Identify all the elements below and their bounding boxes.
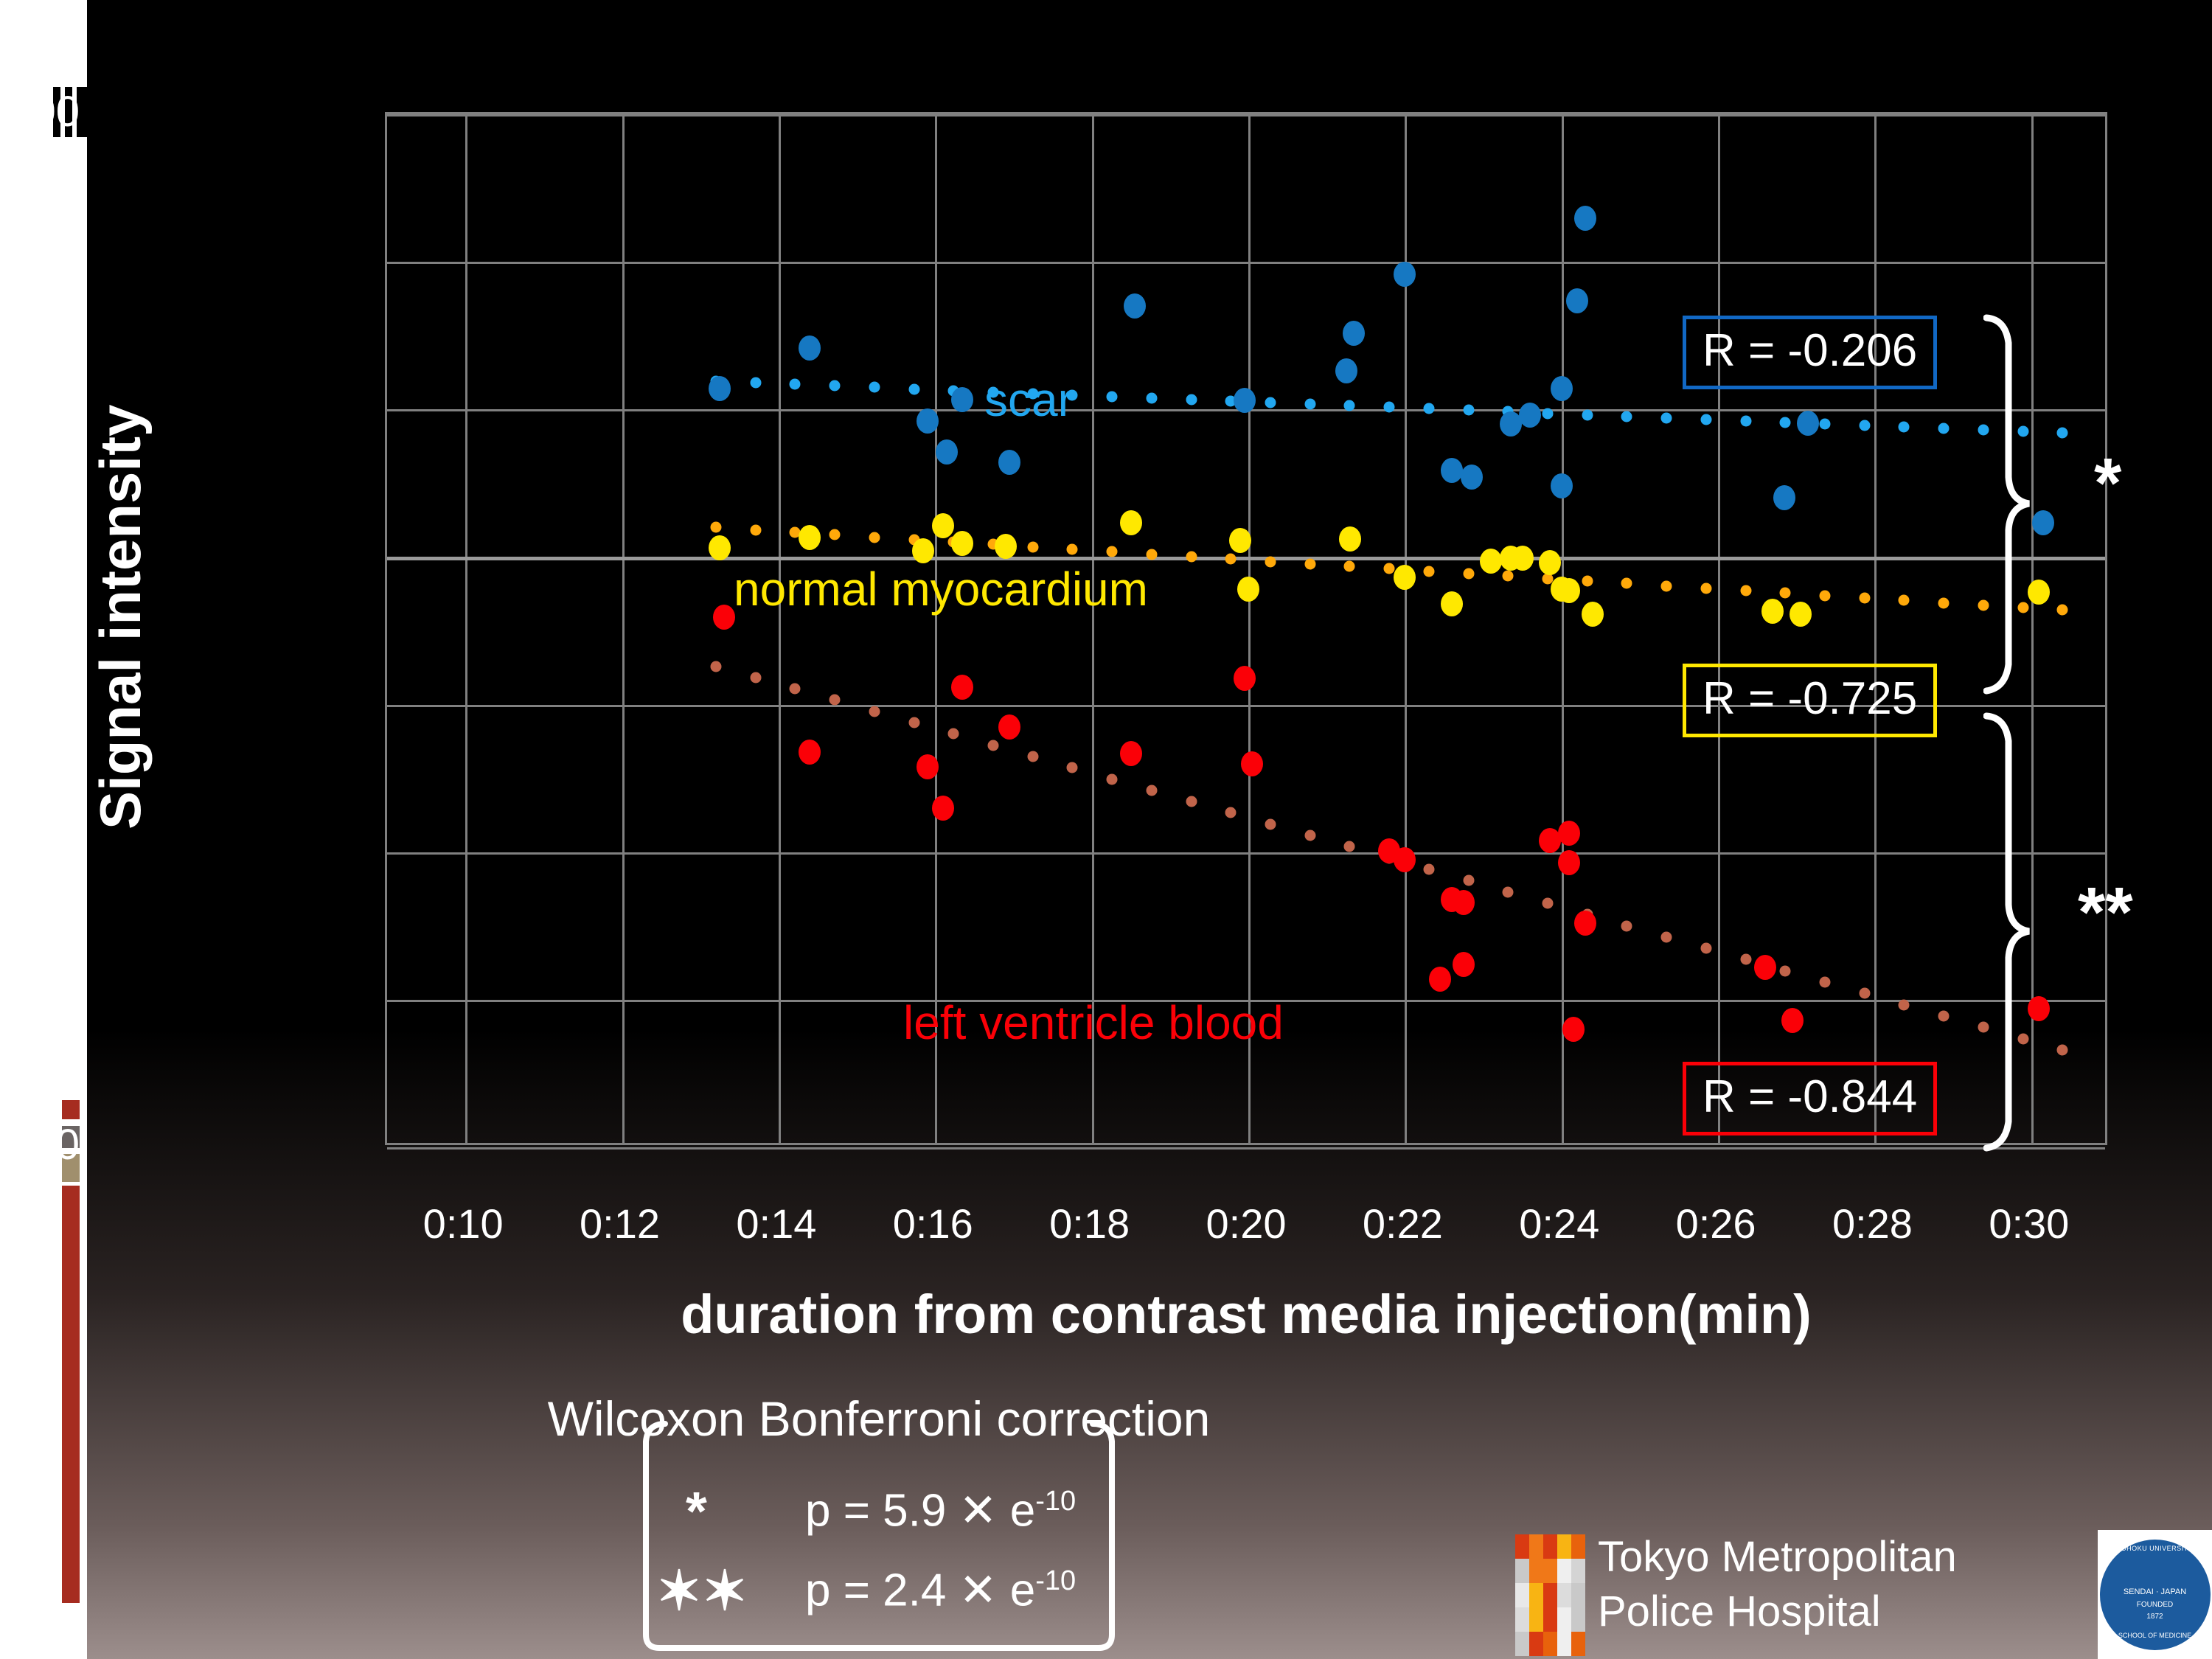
data-point [1229,528,1251,553]
x-axis-tick-label: 0:26 [1676,1203,1756,1245]
trendline-dot [1265,397,1276,408]
seal-text-year: 1872 [2100,1613,2211,1621]
data-point [1539,550,1561,575]
data-point [1797,411,1819,436]
mosaic-tile [1571,1583,1585,1607]
x-axis-tick-label: 0:22 [1363,1203,1443,1245]
y-axis-tick-label: 200 [8,386,80,428]
trendline-dot [1304,830,1315,841]
significance-brace-upper [1983,313,2072,697]
data-point [951,387,973,412]
y-axis-tick-label: 400 [8,238,80,281]
gridline-vertical [1562,114,1564,1143]
mosaic-tile [1543,1632,1557,1656]
trendline-dot [1463,405,1474,416]
data-point [1429,967,1451,992]
hospital-name: Tokyo Metropolitan Police Hospital [1598,1530,1957,1639]
data-point [1335,358,1357,383]
seal-circle: TOHOKU UNIVERSITY SENDAI · JAPAN FOUNDED… [2100,1540,2211,1650]
gridline-vertical [779,114,781,1143]
footnote-marker-double: ✶✶ [656,1564,748,1618]
footnote-text-single: p = 5.9 ✕ e-10 [805,1487,1076,1534]
trendline-dot [1938,423,1950,434]
data-point [1394,262,1416,287]
footnote-exponent-double: -10 [1035,1565,1076,1596]
mosaic-tile [1571,1632,1585,1656]
data-point [713,605,735,630]
trendline-dot [1938,597,1950,608]
trendline-dot [1304,558,1315,569]
trendline-dot [1107,391,1118,402]
mosaic-tile [1557,1607,1571,1632]
series-label-left-ventricle-blood: left ventricle blood [903,999,1284,1046]
gridline-vertical [465,114,467,1143]
mosaic-tile [1571,1607,1585,1632]
trendline-dot [1027,541,1038,552]
data-point [995,534,1017,559]
trendline-dot [1819,418,1830,429]
x-axis-tick-label: 0:24 [1519,1203,1599,1245]
x-axis-tick-label: 0:16 [893,1203,973,1245]
data-point [1558,850,1580,875]
data-point [1582,602,1604,627]
gridline-vertical [935,114,937,1143]
trendline-dot [1186,796,1197,807]
data-point [1453,890,1475,915]
trendline-dot [1186,551,1197,562]
data-point [1773,485,1795,510]
trendline-dot [1107,546,1118,557]
trendline-dot [1661,580,1672,591]
trendline-dot [1503,886,1514,897]
data-point [1761,599,1784,624]
trendline-dot [869,382,880,393]
data-point [1461,465,1483,490]
footnote-exponent-single: -10 [1035,1486,1076,1517]
scatter-plot-area: scar normal myocardium left ventricle bl… [385,112,2107,1145]
data-point [1558,821,1580,846]
mosaic-tile [1557,1534,1571,1559]
data-point [1234,666,1256,691]
data-point [917,754,939,779]
significance-brace-lower [1983,712,2072,1154]
seal-text-mid: SENDAI · JAPAN [2100,1588,2211,1597]
trendline-dot [1423,403,1434,414]
trendline-dot [1661,931,1672,942]
trendline-dot [1463,875,1474,886]
data-point [1512,546,1534,571]
data-point [1574,206,1596,231]
seal-text-founded: FOUNDED [2100,1601,2211,1610]
data-point [1120,741,1142,766]
y-axis-tick-label: -800 [0,1124,80,1166]
footnote-box: Wilcoxon Bonferroni correction * p = 5.9… [422,1405,1336,1654]
trendline-dot [790,379,801,390]
trendline-dot [1146,549,1157,560]
trendline-dot [1582,409,1593,420]
trendline-dot [1859,592,1870,603]
trendline-dot [869,532,880,543]
data-point [936,439,958,465]
trendline-dot [1067,544,1078,555]
gridline-vertical [1092,114,1094,1143]
trendline-dot [1740,954,1751,965]
mosaic-tile [1515,1583,1529,1607]
trendline-dot [1740,415,1751,426]
gridline-vertical [1248,114,1251,1143]
mosaic-tile [1543,1534,1557,1559]
trendline-dot [869,706,880,717]
data-point [1500,411,1522,437]
trendline-dot [750,524,761,535]
data-point [1551,473,1573,498]
data-point [1519,403,1541,428]
university-seal-icon: TOHOKU UNIVERSITY SENDAI · JAPAN FOUNDED… [2098,1530,2212,1659]
y-axis-tick-label: 600 [8,91,80,133]
data-point [1754,955,1776,980]
gridline-vertical [622,114,625,1143]
data-point [932,796,954,821]
gridline-horizontal [387,1147,2105,1150]
mosaic-tile [1557,1583,1571,1607]
data-point [1394,847,1416,872]
significance-asterisk-upper: * [2094,448,2121,519]
trendline-dot [1304,399,1315,410]
data-point [1441,591,1463,616]
trendline-dot [1899,422,1910,433]
trendline-dot [1146,392,1157,403]
significance-asterisk-lower: ** [2078,877,2133,948]
trendline-dot [1661,412,1672,423]
trendline-dot [829,695,841,706]
hospital-name-line2: Police Hospital [1598,1585,1957,1639]
y-axis-tick-label: -400 [0,829,80,872]
x-axis-tick-label: 0:10 [423,1203,504,1245]
trendline-dot [987,740,998,751]
trendline-dot [790,684,801,695]
y-axis-tick-label: 0 [56,533,80,576]
correlation-box-scar: R = -0.206 [1683,316,1937,389]
data-point [932,513,954,538]
trendline-dot [1780,417,1791,428]
hospital-logo: Tokyo Metropolitan Police Hospital TOHOK… [1515,1530,2212,1659]
footnote-text-double: p = 2.4 ✕ e-10 [805,1567,1076,1614]
trendline-dot [1146,785,1157,796]
trendline-dot [829,380,841,392]
trendline-dot [1819,590,1830,601]
rail-swatch-red-long [62,1186,80,1603]
data-point [1237,577,1259,602]
trendline-dot [710,661,721,672]
trendline-dot [1700,943,1711,954]
gridline-vertical [1874,114,1877,1143]
seal-text-top: TOHOKU UNIVERSITY [2100,1545,2211,1552]
data-point [1562,1017,1585,1042]
trendline-dot [1780,965,1791,976]
mosaic-tile [1543,1559,1557,1583]
trendline-dot [829,529,841,540]
data-point [1124,293,1146,319]
trendline-dot [750,672,761,683]
footnote-p-value-single: p = 5.9 ✕ e [805,1486,1035,1537]
data-point [917,408,939,434]
mosaic-tile [1515,1534,1529,1559]
data-point [799,525,821,550]
series-label-scar: scar [984,376,1074,423]
data-point [1566,288,1588,313]
data-point [1339,526,1361,552]
trendline-dot [1265,818,1276,829]
trendline-dot [1344,561,1355,572]
correlation-box-left-ventricle-blood: R = -0.844 [1683,1062,1937,1135]
trendline-dot [1621,411,1632,422]
mosaic-tile [1515,1607,1529,1632]
x-axis-tick-label: 0:20 [1206,1203,1287,1245]
trendline-dot [1938,1010,1950,1021]
trendline-dot [1621,920,1632,931]
mosaic-logo-icon [1515,1534,1585,1656]
trendline-dot [1700,414,1711,425]
trendline-dot [1819,977,1830,988]
footnote-marker-single: * [686,1484,707,1539]
data-point [998,714,1020,740]
gridline-horizontal [387,114,2105,116]
trendline-dot [1107,773,1118,785]
trendline-dot [1225,807,1237,818]
trendline-dot [1423,566,1434,577]
data-point [998,450,1020,475]
data-point [1781,1008,1804,1033]
trendline-dot [1899,595,1910,606]
data-point [1241,751,1263,776]
y-axis-tick-label: -200 [0,681,80,724]
trendline-dot [1463,568,1474,580]
mosaic-tile [1529,1559,1543,1583]
x-axis-tick-label: 0:14 [736,1203,816,1245]
trendline-dot [1503,571,1514,582]
trendline-dot [750,378,761,389]
gridline-horizontal [387,852,2105,855]
mosaic-tile [1529,1607,1543,1632]
trendline-dot [908,717,919,728]
rail-swatch-red-top [62,1100,80,1119]
x-axis-tick-label: 0:28 [1832,1203,1913,1245]
gridline-vertical [1718,114,1720,1143]
data-point [912,538,934,563]
trendline-dot [1700,582,1711,594]
mosaic-tile [1529,1534,1543,1559]
trendline-dot [1740,585,1751,597]
trendline-dot [1542,408,1553,419]
y-axis-tick-label: -600 [0,976,80,1019]
mosaic-tile [1571,1559,1585,1583]
trendline-dot [710,522,721,533]
x-axis-title: duration from contrast media injection(m… [385,1283,2107,1346]
data-point [709,376,731,401]
x-axis-tick-label: 0:12 [580,1203,660,1245]
x-axis-tick-label: 0:18 [1049,1203,1130,1245]
correlation-box-normal-myocardium: R = -0.725 [1683,664,1937,737]
trendline-dot [1384,563,1395,574]
data-point [1394,565,1416,590]
trendline-dot [1780,588,1791,599]
mosaic-tile [1543,1583,1557,1607]
mosaic-tile [1529,1583,1543,1607]
data-point [1120,510,1142,535]
mosaic-tile [1571,1534,1585,1559]
mosaic-tile [1543,1607,1557,1632]
data-point [799,740,821,765]
trendline-dot [1542,897,1553,908]
x-axis-tick-label: 0:30 [1989,1203,2069,1245]
trendline-dot [1621,578,1632,589]
trendline-dot [1859,988,1870,999]
trendline-dot [1027,751,1038,762]
data-point [1234,388,1256,413]
trendline-dot [1067,762,1078,773]
data-point [1539,828,1561,853]
hospital-name-line1: Tokyo Metropolitan [1598,1530,1957,1585]
footnote-title: Wilcoxon Bonferroni correction [422,1394,1336,1443]
mosaic-tile [1515,1632,1529,1656]
trendline-dot [1384,402,1395,413]
trendline-dot [1344,841,1355,852]
data-point [951,675,973,700]
trendline-dot [1265,556,1276,567]
data-point [1558,578,1580,603]
seal-text-bottom: SCHOOL OF MEDICINE [2100,1632,2211,1639]
mosaic-tile [1529,1632,1543,1656]
data-point [1790,602,1812,627]
trendline-dot [1582,575,1593,586]
trendline-dot [1423,864,1434,875]
data-point [1551,376,1573,401]
data-point [951,531,973,556]
trendline-dot [1225,554,1237,565]
trendline-dot [1899,999,1910,1010]
data-point [1343,321,1365,346]
series-label-normal-myocardium: normal myocardium [734,566,1148,613]
trendline-dot [1186,394,1197,405]
data-point [1574,911,1596,936]
gridline-horizontal [387,262,2105,264]
data-point [1480,549,1502,574]
data-point [799,335,821,361]
trendline-dot [1859,420,1870,431]
data-point [1453,952,1475,977]
mosaic-tile [1557,1632,1571,1656]
trendline-dot [1344,400,1355,411]
trendline-dot [948,728,959,740]
footnote-p-value-double: p = 2.4 ✕ e [805,1565,1035,1616]
data-point [1441,458,1463,483]
trendline-dot [908,383,919,394]
gridline-zero [387,557,2105,560]
mosaic-tile [1515,1559,1529,1583]
mosaic-tile [1557,1559,1571,1583]
y-axis-title: Signal intensity [87,405,154,829]
data-point [709,535,731,560]
